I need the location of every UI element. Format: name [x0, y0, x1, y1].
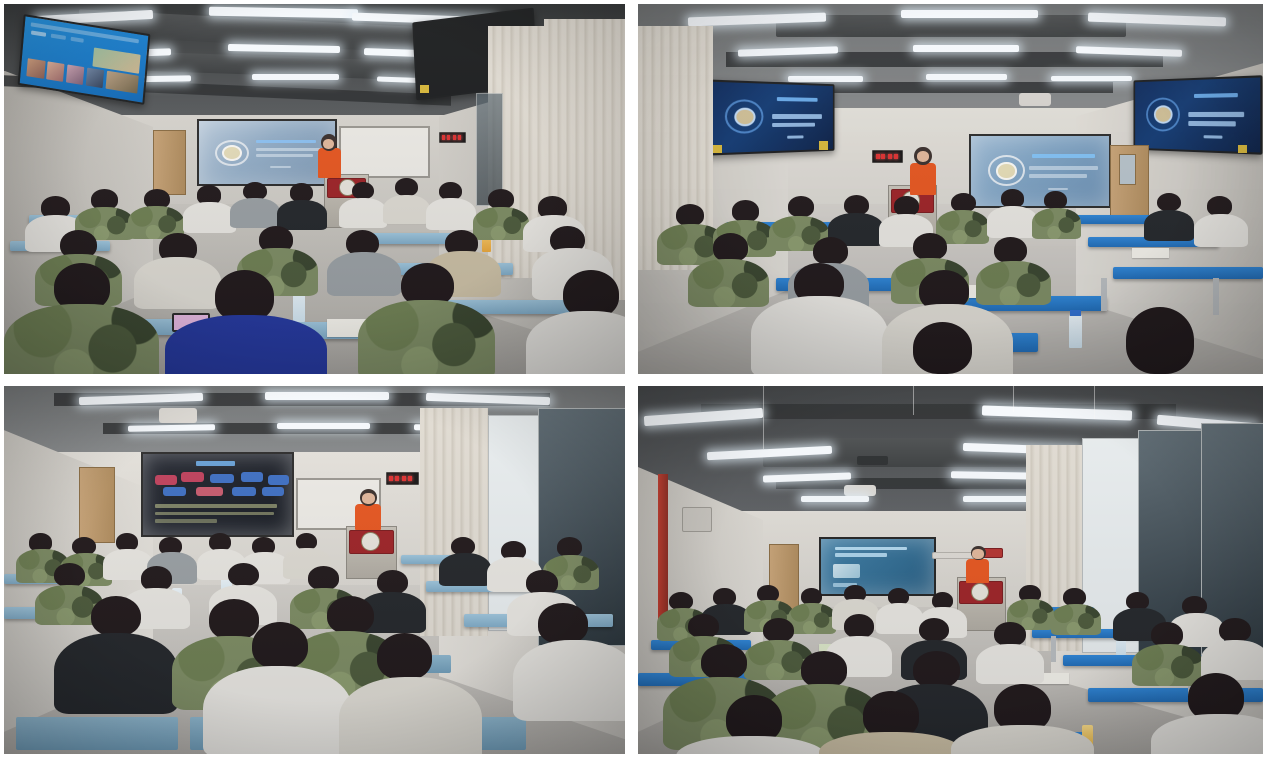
screen-headline — [1188, 121, 1235, 126]
audience-head — [395, 178, 417, 196]
screen-headline — [772, 122, 815, 127]
audience-torso — [1132, 644, 1204, 686]
slide-text-line — [1029, 166, 1098, 170]
audience-head — [1219, 618, 1250, 642]
slide-title-line — [196, 461, 235, 466]
led-digit — [876, 154, 880, 159]
water-bottle — [1069, 315, 1082, 348]
audience-head — [1207, 196, 1232, 215]
slide-footer-line — [1048, 188, 1067, 190]
audience-torso — [183, 202, 236, 233]
slide-footer-line — [270, 166, 292, 168]
audience-torso — [987, 206, 1038, 238]
bench-seat-foreground — [16, 717, 177, 750]
strip-light — [265, 392, 389, 400]
light-pendant-wire — [913, 386, 914, 415]
audience-head-foreground — [1126, 307, 1195, 374]
slide-node — [210, 474, 234, 484]
led-digit — [442, 135, 445, 140]
audience-torso — [1144, 210, 1194, 241]
slide-title-line — [835, 547, 907, 551]
audience-torso — [339, 198, 386, 228]
door-window — [1119, 154, 1136, 186]
classroom-scene-1 — [4, 4, 625, 374]
audience-head-foreground — [252, 622, 308, 670]
strip-light — [128, 424, 215, 432]
notebook-paper — [1132, 248, 1170, 258]
audience-head — [994, 622, 1025, 646]
audience-torso — [788, 603, 836, 634]
strip-light — [963, 496, 1032, 501]
audience-head — [1001, 189, 1025, 208]
audience-torso-foreground — [165, 315, 326, 374]
ui-tab — [31, 31, 46, 37]
strip-light — [227, 44, 339, 53]
photo-panel-top-left[interactable] — [4, 4, 625, 374]
led-digit — [458, 135, 461, 140]
room-door[interactable] — [153, 130, 186, 195]
led-digit — [881, 154, 885, 159]
slide-text-line — [256, 154, 313, 157]
audience-head — [488, 189, 514, 209]
ceiling-projector — [1019, 93, 1050, 106]
led-digit — [447, 135, 450, 140]
podium-emblem-icon — [361, 532, 380, 551]
audience-torso — [1032, 208, 1081, 239]
screen-footer — [1203, 135, 1221, 138]
whiteboard — [339, 126, 430, 178]
projection-screen — [969, 134, 1111, 208]
screen-tagline — [1193, 93, 1237, 98]
projection-screen — [819, 537, 936, 596]
strip-light — [913, 45, 1019, 52]
audience-head — [919, 618, 949, 642]
classroom-scene-4 — [638, 386, 1263, 754]
slide-title-line — [256, 140, 316, 143]
audience-head — [377, 570, 408, 594]
audience-torso — [327, 252, 402, 296]
speaker-body — [355, 504, 381, 530]
photo-collage — [0, 0, 1267, 760]
audience-torso — [439, 553, 491, 586]
slide-text-line — [256, 148, 322, 151]
classroom-desk — [1113, 267, 1263, 279]
audience-head-foreground — [538, 603, 588, 643]
window-curtain — [420, 408, 488, 636]
audience-head — [894, 196, 919, 215]
led-digit — [894, 154, 898, 159]
ui-thumb — [105, 71, 138, 93]
screen-emblem-icon — [1154, 106, 1173, 124]
desk-leg — [1101, 278, 1107, 311]
audience-torso — [230, 198, 280, 228]
bottle-cap — [1070, 310, 1081, 317]
audience-head — [352, 182, 374, 200]
led-digit — [395, 476, 399, 481]
hanging-event-screen-right[interactable] — [1133, 75, 1262, 155]
ui-thumb — [46, 62, 65, 82]
audience-head-foreground — [209, 599, 259, 639]
audience-torso — [473, 207, 529, 240]
screen-headline — [772, 114, 822, 119]
audience-torso-foreground — [339, 677, 482, 754]
audience-head — [844, 614, 874, 638]
audience-torso — [383, 195, 430, 225]
led-digit — [888, 154, 892, 159]
audience-torso-foreground — [358, 300, 495, 374]
audience-head — [763, 618, 794, 642]
strip-light — [252, 74, 339, 80]
ui-thumb — [26, 59, 45, 79]
strip-light — [901, 10, 1039, 19]
led-digit — [453, 135, 456, 140]
audience-torso-foreground — [751, 296, 889, 374]
audience-head — [844, 195, 869, 215]
monitor-mount — [420, 85, 429, 92]
audience-head-foreground — [801, 651, 848, 688]
light-pendant-wire — [1094, 386, 1095, 419]
ceiling-projector — [159, 408, 196, 423]
audience-torso-foreground — [513, 640, 625, 721]
speaker-body — [318, 148, 340, 178]
audience-torso — [1194, 214, 1248, 247]
audience-head — [141, 566, 172, 590]
audience-head — [228, 563, 259, 587]
audience-torso-foreground — [54, 633, 178, 714]
ceiling-projector — [844, 485, 875, 496]
fire-standpipe — [658, 474, 668, 621]
screen-emblem-icon — [734, 107, 755, 126]
screen-tagline — [777, 97, 817, 102]
speaker-body — [910, 163, 936, 195]
slide-node — [241, 472, 263, 482]
light-pendant-wire — [763, 386, 764, 449]
audience-torso — [277, 200, 327, 230]
audience-head — [688, 614, 719, 638]
screen-mount — [713, 145, 722, 154]
screen-headline — [1188, 111, 1243, 116]
audience-head — [713, 233, 748, 261]
slide-image-thumb — [833, 564, 860, 578]
strip-light — [801, 496, 870, 501]
screen-mount — [819, 141, 828, 150]
slide-title-line — [1032, 154, 1095, 158]
audience-head-foreground — [913, 651, 960, 688]
audience-head — [1157, 193, 1181, 212]
led-clock — [439, 132, 466, 144]
audience-torso — [876, 603, 924, 634]
podium-emblem-icon — [971, 583, 989, 601]
ceiling-projector — [857, 456, 888, 465]
slide-emblem-icon — [996, 162, 1017, 179]
screen-mount — [1238, 145, 1247, 154]
audience-torso — [688, 259, 769, 307]
audience-head — [308, 566, 339, 590]
strip-light — [788, 76, 863, 82]
slide-node — [262, 487, 284, 496]
hanging-event-screen-left[interactable] — [705, 79, 834, 155]
audience-head — [1044, 191, 1067, 209]
audience-head — [913, 233, 947, 260]
desk-leg — [1051, 636, 1057, 662]
audience-head — [54, 563, 85, 587]
audience-head — [951, 193, 976, 212]
slide-title-line — [835, 553, 887, 557]
slide-text-line — [1029, 174, 1087, 178]
ui-thumb — [65, 65, 84, 85]
audience-torso — [976, 261, 1051, 305]
projection-screen — [141, 452, 294, 537]
slide-node — [196, 487, 223, 496]
speaker-face — [323, 139, 334, 149]
slide-body-line — [155, 504, 277, 508]
strip-light — [926, 74, 1007, 80]
slide-node — [268, 475, 289, 485]
classroom-scene-2 — [638, 4, 1263, 374]
audience-torso-foreground — [203, 666, 352, 754]
audience-head — [788, 196, 814, 217]
room-door[interactable] — [79, 467, 115, 543]
led-digit — [402, 476, 406, 481]
audience-head — [813, 237, 848, 265]
led-digit — [389, 476, 393, 481]
audience-head-foreground — [701, 644, 748, 681]
slide-body-line — [155, 512, 274, 516]
audience-torso — [1051, 604, 1101, 636]
audience-torso-foreground — [4, 304, 159, 374]
audience-torso — [134, 257, 221, 309]
speaker-face — [362, 493, 374, 504]
slide-body-line — [155, 519, 218, 523]
led-digit — [408, 476, 412, 481]
ui-thumb — [85, 68, 104, 88]
audience-head-foreground — [913, 322, 972, 374]
speaker-face — [972, 549, 983, 559]
speaker-body — [966, 559, 990, 583]
audience-head — [732, 200, 760, 221]
audience-head — [557, 537, 582, 557]
slide-node — [181, 472, 203, 482]
audience-head — [1151, 622, 1184, 647]
ui-tab — [70, 37, 83, 43]
audience-head — [994, 237, 1027, 263]
audience-head-foreground — [377, 633, 433, 681]
photo-panel-bottom-right[interactable] — [638, 386, 1263, 754]
strip-light — [1051, 76, 1132, 81]
classroom-scene-3 — [4, 386, 625, 754]
audience-torso — [426, 198, 476, 229]
screen-footer — [787, 135, 804, 138]
audience-torso — [976, 644, 1045, 684]
ceiling-duct — [776, 15, 1126, 37]
ui-tab — [51, 34, 66, 40]
audience-head — [676, 204, 705, 226]
slide-node — [155, 475, 177, 485]
desk-leg — [1213, 278, 1219, 315]
led-clock — [386, 472, 419, 484]
light-pendant-wire — [1013, 386, 1014, 412]
slide-node — [163, 487, 185, 496]
photo-panel-bottom-left[interactable] — [4, 386, 625, 754]
projection-screen — [197, 119, 338, 186]
strip-light — [277, 423, 370, 429]
photo-panel-top-right[interactable] — [638, 4, 1263, 374]
audience-head — [1182, 596, 1207, 615]
audience-head-foreground — [327, 596, 374, 635]
led-clock — [872, 150, 902, 162]
wall-control-box — [682, 507, 712, 531]
audience-head-foreground — [91, 596, 141, 636]
slide-node — [232, 487, 256, 496]
